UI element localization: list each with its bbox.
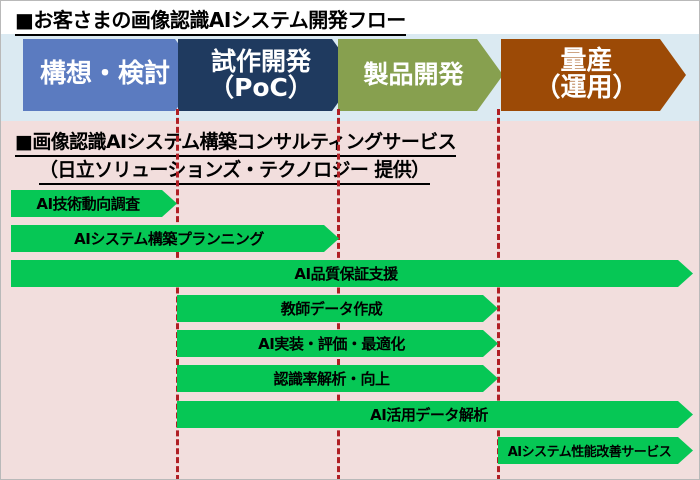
task-label-ai-tech-trend-survey: AI技術動向調査 (36, 193, 151, 214)
phase-label-poc-line2: （PoC） (209, 73, 313, 102)
task-arrow-ai-impl-eval-optimize[interactable]: AI実装・評価・最適化 (177, 330, 498, 357)
task-label-ai-system-build-planning: AIシステム構築プランニング (74, 228, 276, 249)
bottom-section-heading-line2: （日立ソリューションズ・テクノロジー 提供） (39, 155, 430, 185)
phase-label-product-dev: 製品開発 (363, 62, 477, 88)
phase-label-poc-line1: 試作開発 (211, 47, 311, 76)
phase-label-concept-study: 構想・検討 (40, 61, 184, 88)
task-arrow-recognition-rate-analysis[interactable]: 認識率解析・向上 (177, 365, 498, 392)
phase-label-mass-line1: 量産 (560, 46, 612, 76)
diagram-canvas: ■お客さまの画像認識AIシステム開発フロー 構想・検討 試作開発 （PoC） 製… (0, 0, 700, 480)
bottom-section-heading: ■画像認識AIシステム構築コンサルティングサービス （日立ソリューションズ・テク… (1, 127, 700, 183)
task-label-ai-impl-eval-optimize: AI実装・評価・最適化 (258, 333, 417, 354)
top-section-heading: ■お客さまの画像認識AIシステム開発フロー (15, 4, 406, 36)
phase-label-poc-development: 試作開発 （PoC） (209, 49, 327, 102)
task-label-training-data-creation: 教師データ作成 (281, 298, 395, 319)
phase-chevron-poc-development[interactable]: 試作開発 （PoC） (178, 39, 358, 111)
task-label-ai-quality-assurance: AI品質保証支援 (294, 263, 409, 284)
task-arrow-ai-quality-assurance[interactable]: AI品質保証支援 (11, 260, 693, 287)
task-label-ai-perf-improvement: AIシステム性能改善サービス (508, 441, 684, 460)
task-label-ai-data-analysis: AI活用データ解析 (370, 404, 500, 425)
phase-chevron-concept-study[interactable]: 構想・検討 (23, 39, 201, 111)
task-arrow-ai-data-analysis[interactable]: AI活用データ解析 (177, 401, 693, 428)
task-label-recognition-rate-analysis: 認識率解析・向上 (273, 368, 401, 389)
top-section-heading-band: ■お客さまの画像認識AIシステム開発フロー (1, 1, 700, 34)
task-arrow-ai-tech-trend-survey[interactable]: AI技術動向調査 (11, 190, 177, 217)
phase-label-mass-line2: （運用） (534, 73, 638, 103)
phase-label-mass-production: 量産 （運用） (534, 48, 652, 103)
bottom-section-heading-line1: ■画像認識AIシステム構築コンサルティングサービス (15, 127, 456, 157)
task-arrow-training-data-creation[interactable]: 教師データ作成 (177, 295, 498, 322)
phase-chevron-product-dev[interactable]: 製品開発 (338, 39, 503, 111)
task-arrow-ai-perf-improvement[interactable]: AIシステム性能改善サービス (498, 437, 693, 464)
task-arrow-ai-system-build-planning[interactable]: AIシステム構築プランニング (11, 225, 339, 252)
phase-chevron-mass-production[interactable]: 量産 （運用） (501, 39, 686, 111)
